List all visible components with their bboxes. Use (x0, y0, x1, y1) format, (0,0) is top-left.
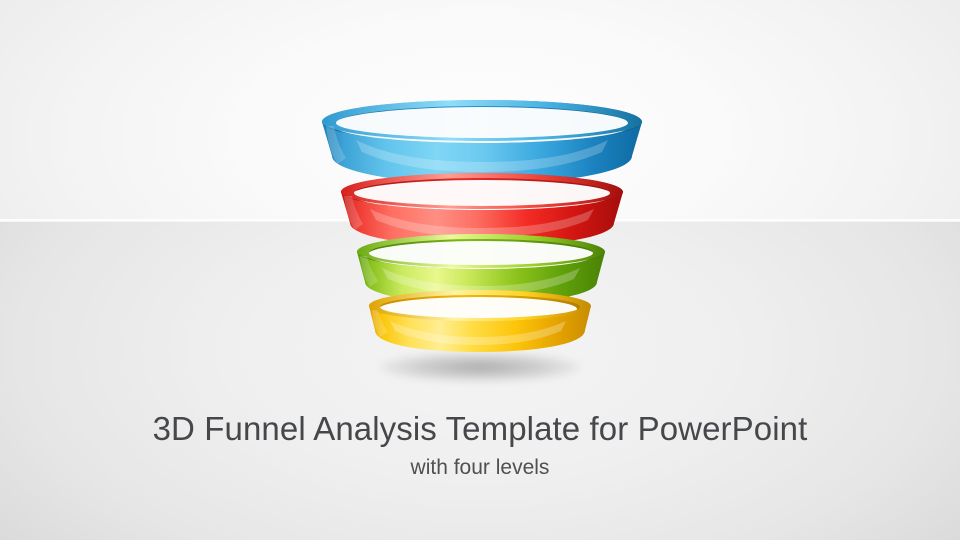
page-subtitle: with four levels (0, 455, 960, 481)
slide-canvas: 3D Funnel Analysis Template for PowerPoi… (0, 0, 960, 540)
funnel-level-yellow[interactable] (364, 290, 596, 354)
funnel-ground-shadow (380, 352, 580, 382)
page-title: 3D Funnel Analysis Template for PowerPoi… (0, 409, 960, 449)
title-block: 3D Funnel Analysis Template for PowerPoi… (0, 409, 960, 481)
